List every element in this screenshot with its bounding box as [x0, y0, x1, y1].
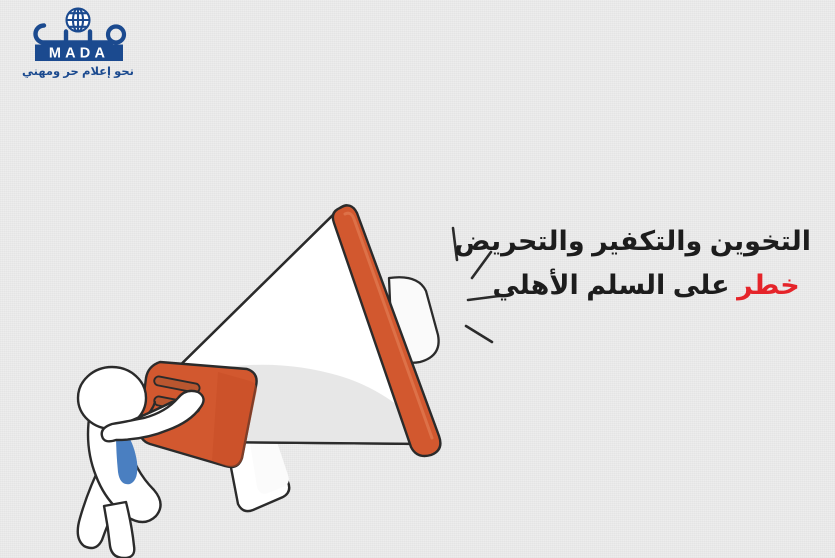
sound-line-4 — [466, 326, 492, 342]
headline-line-2: خطر على السلم الأهلي — [481, 266, 811, 304]
headline-line-1: التخوين والتكفير والتحريض — [481, 222, 811, 260]
headline-line-2-rest: على السلم الأهلي — [492, 270, 737, 300]
person-figure — [78, 367, 204, 558]
mada-logo-mark: MADA — [18, 4, 138, 66]
globe-icon — [67, 9, 90, 32]
poster-canvas: MADA نحو إعلام حر ومهني — [0, 0, 835, 558]
headline: التخوين والتكفير والتحريض خطر على السلم … — [481, 222, 811, 305]
headline-danger-word: خطر — [737, 270, 800, 300]
mada-logo: MADA نحو إعلام حر ومهني — [18, 4, 138, 84]
logo-tagline: نحو إعلام حر ومهني — [18, 64, 138, 78]
mada-wordmark-text: MADA — [49, 45, 109, 61]
megaphone-illustration — [40, 190, 510, 558]
